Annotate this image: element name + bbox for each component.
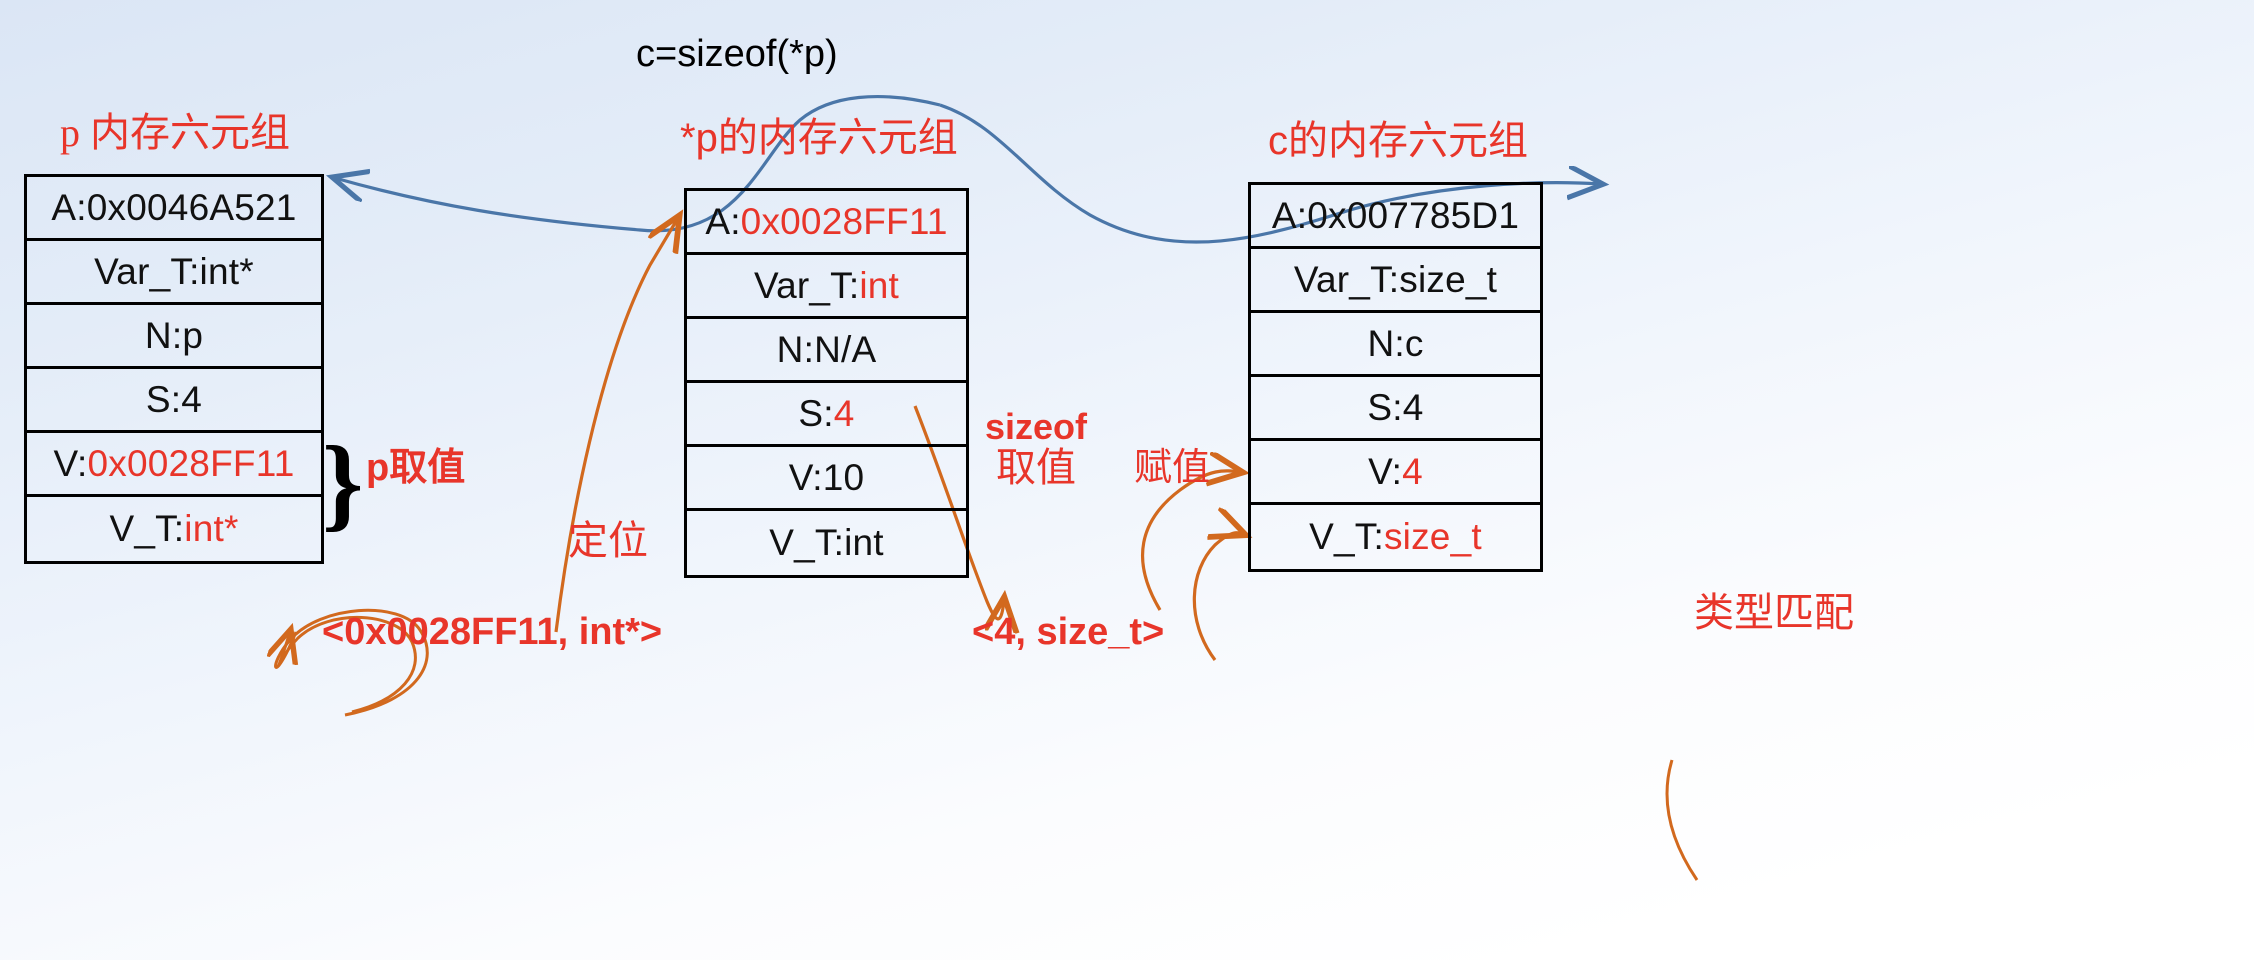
annotation-p-take-value: p取值 bbox=[366, 448, 465, 489]
table-row: N: c bbox=[1251, 313, 1540, 377]
row-value: 0x0046A521 bbox=[87, 187, 297, 229]
row-label: V_T: bbox=[109, 508, 184, 550]
row-label: V_T: bbox=[1309, 516, 1384, 558]
row-value: 0x007785D1 bbox=[1307, 195, 1519, 237]
row-label: S: bbox=[1367, 387, 1402, 429]
row-label: V: bbox=[1368, 451, 1402, 493]
table-row: S: 4 bbox=[27, 369, 321, 433]
row-label: N: bbox=[1367, 323, 1404, 365]
slide-canvas: c=sizeof(*p) p 内存六元组 *p的内存六元组 c的内存六元组 A:… bbox=[0, 0, 2254, 960]
row-label: S: bbox=[798, 393, 833, 435]
row-value: 4 bbox=[1402, 451, 1423, 493]
table-row: A: 0x0046A521 bbox=[27, 177, 321, 241]
caption-c-table: c的内存六元组 bbox=[1268, 108, 1528, 166]
curly-brace-icon: } bbox=[322, 430, 363, 535]
orange-arrow-assign bbox=[1143, 471, 1240, 610]
table-row: V: 0x0028FF11 bbox=[27, 433, 321, 497]
annotation-sizeof-line1: sizeof bbox=[985, 408, 1087, 447]
table-row: Var_T: int bbox=[687, 255, 966, 319]
table-row: A: 0x007785D1 bbox=[1251, 185, 1540, 249]
row-value: 0x0028FF11 bbox=[88, 443, 295, 485]
table-row: Var_T: int* bbox=[27, 241, 321, 305]
row-value: size_t bbox=[1399, 259, 1497, 301]
row-value: 4 bbox=[181, 379, 202, 421]
table-row: V_T: int* bbox=[27, 497, 321, 561]
orange-arrow-locate bbox=[556, 218, 678, 632]
c-memory-sextuple-table: A: 0x007785D1 Var_T: size_t N: c S: 4 V:… bbox=[1248, 182, 1543, 572]
annotation-type-match: 类型匹配 bbox=[1694, 592, 1854, 635]
table-row: V: 10 bbox=[687, 447, 966, 511]
row-value: int* bbox=[200, 251, 254, 293]
row-label: A: bbox=[705, 201, 740, 243]
row-label: V_T: bbox=[769, 522, 844, 564]
row-value: 0x0028FF11 bbox=[741, 201, 948, 243]
row-label: N: bbox=[145, 315, 182, 357]
annotation-sizeof-line2: 取值 bbox=[985, 447, 1087, 490]
row-value: int bbox=[844, 522, 884, 564]
table-row: V_T: int bbox=[687, 511, 966, 575]
row-label: S: bbox=[146, 379, 181, 421]
table-row: V_T: size_t bbox=[1251, 505, 1540, 569]
deref-p-memory-sextuple-table: A: 0x0028FF11 Var_T: int N: N/A S: 4 V: … bbox=[684, 188, 969, 578]
caption-dp-table: *p的内存六元组 bbox=[680, 105, 958, 163]
table-row: S: 4 bbox=[1251, 377, 1540, 441]
row-value: 10 bbox=[823, 457, 865, 499]
row-value: int bbox=[859, 265, 899, 307]
row-label: N: bbox=[777, 329, 814, 371]
caption-p-table: p 内存六元组 bbox=[60, 100, 290, 158]
row-value: 4 bbox=[1403, 387, 1424, 429]
row-label: Var_T: bbox=[754, 265, 859, 307]
row-label: V: bbox=[54, 443, 88, 485]
row-label: Var_T: bbox=[94, 251, 199, 293]
row-value: p bbox=[182, 315, 203, 357]
row-label: Var_T: bbox=[1294, 259, 1399, 301]
orange-arrow-type-match-tail bbox=[1667, 760, 1697, 880]
annotation-locate: 定位 bbox=[568, 520, 648, 563]
tuple-value-c: <4, size_t> bbox=[972, 612, 1164, 653]
row-value: 4 bbox=[834, 393, 855, 435]
table-row: N: p bbox=[27, 305, 321, 369]
formula-label: c=sizeof(*p) bbox=[636, 33, 838, 76]
table-row: Var_T: size_t bbox=[1251, 249, 1540, 313]
row-label: A: bbox=[51, 187, 86, 229]
table-row: N: N/A bbox=[687, 319, 966, 383]
table-row: V: 4 bbox=[1251, 441, 1540, 505]
p-memory-sextuple-table: A: 0x0046A521 Var_T: int* N: p S: 4 V: 0… bbox=[24, 174, 324, 564]
row-value: c bbox=[1405, 323, 1424, 365]
tuple-value-p: <0x0028FF11, int*> bbox=[322, 612, 662, 653]
row-label: A: bbox=[1272, 195, 1307, 237]
row-value: size_t bbox=[1384, 516, 1482, 558]
row-value: int* bbox=[184, 508, 238, 550]
table-row: A: 0x0028FF11 bbox=[687, 191, 966, 255]
row-label: V: bbox=[789, 457, 823, 499]
table-row: S: 4 bbox=[687, 383, 966, 447]
orange-arrow-type-match bbox=[1194, 533, 1243, 660]
row-value: N/A bbox=[814, 329, 876, 371]
annotation-sizeof-take-value: sizeof 取值 bbox=[985, 408, 1087, 490]
annotation-assign: 赋值 bbox=[1134, 448, 1210, 489]
